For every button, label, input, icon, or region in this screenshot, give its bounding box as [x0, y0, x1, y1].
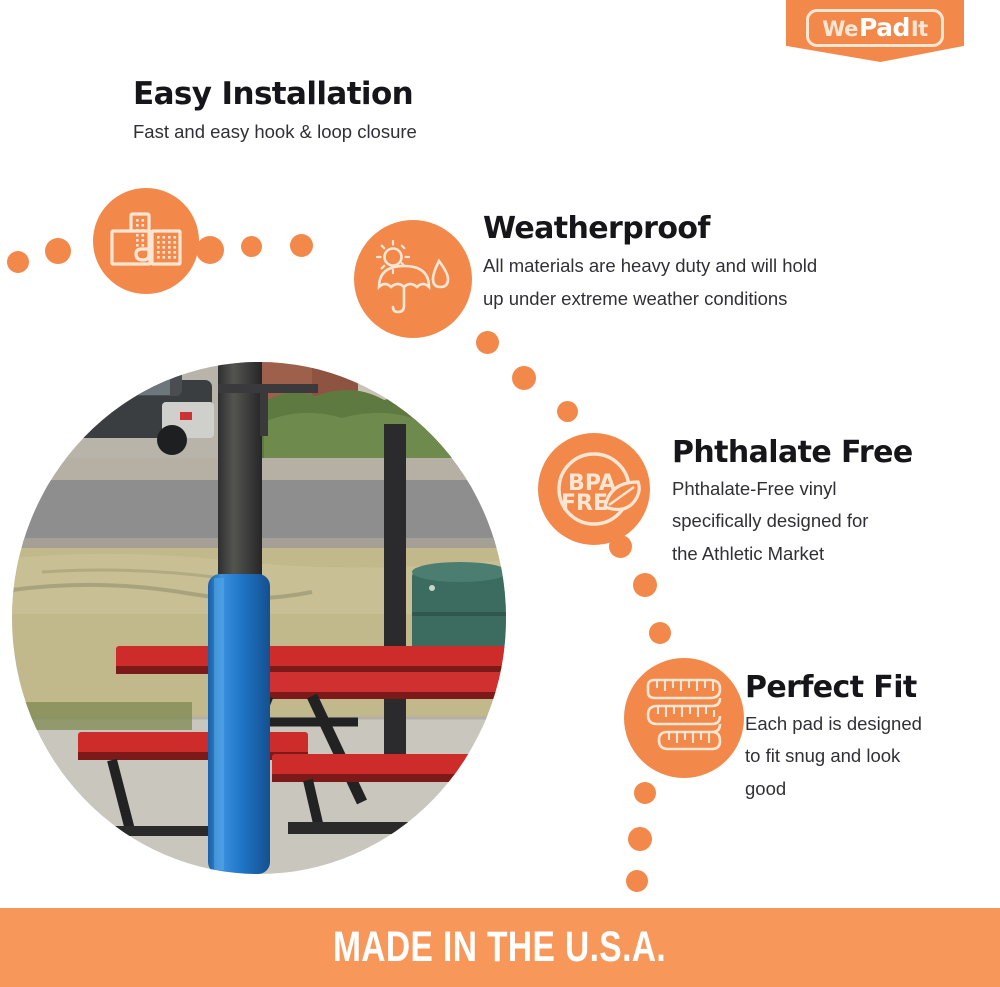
trail-dot: [609, 535, 632, 558]
bpa-free-leaf-icon: BPA FREE: [538, 433, 650, 545]
feature-subtitle-perfect-fit-line2: to fit snug and look: [745, 744, 990, 769]
feature-block-easy-installation: Easy Installation Fast and easy hook & l…: [133, 78, 553, 144]
feature-subtitle-phthalate-free-line1: Phthalate-Free vinyl: [672, 477, 972, 502]
feature-subtitle-phthalate-free-line3: the Athletic Market: [672, 542, 972, 567]
feature-block-phthalate-free: Phthalate Free Phthalate-Free vinyl spec…: [672, 437, 972, 566]
trail-dot: [512, 366, 536, 390]
trail-dot: [476, 331, 499, 354]
feature-subtitle-phthalate-free-line2: specifically designed for: [672, 509, 972, 534]
logo-text-we: We: [822, 19, 858, 40]
trail-dot: [290, 234, 313, 257]
product-photo: [12, 362, 506, 874]
trail-dot: [628, 827, 652, 851]
trail-dot: [196, 236, 224, 264]
trail-dot: [7, 251, 29, 273]
infographic-page: We Pad It Easy Installation Fast and eas…: [0, 0, 1000, 987]
made-in-usa-text: MADE IN THE U.S.A.: [333, 923, 666, 972]
feature-title-perfect-fit: Perfect Fit: [745, 672, 990, 704]
trail-dot: [649, 622, 671, 644]
trail-dot: [557, 401, 578, 422]
feature-block-perfect-fit: Perfect Fit Each pad is designed to fit …: [745, 672, 990, 801]
logo-text-it: It: [911, 19, 928, 40]
trail-dot: [626, 870, 648, 892]
trail-dot: [633, 573, 657, 597]
measuring-tape-icon: [624, 658, 744, 778]
feature-subtitle-perfect-fit-line1: Each pad is designed: [745, 712, 990, 737]
feature-title-easy-installation: Easy Installation: [133, 78, 553, 111]
trail-dot: [45, 238, 71, 264]
feature-subtitle-perfect-fit-line3: good: [745, 777, 990, 802]
sun-umbrella-raindrop-icon: [354, 220, 472, 338]
feature-block-weatherproof: Weatherproof All materials are heavy dut…: [483, 213, 913, 312]
brand-logo-plate: We Pad It: [806, 9, 943, 47]
trail-dot: [241, 236, 262, 257]
feature-subtitle-weatherproof-line2: up under extreme weather conditions: [483, 287, 913, 312]
feature-subtitle-easy-installation: Fast and easy hook & loop closure: [133, 120, 553, 145]
feature-title-phthalate-free: Phthalate Free: [672, 437, 972, 469]
feature-title-weatherproof: Weatherproof: [483, 213, 913, 245]
trail-dot: [634, 782, 656, 804]
logo-text-pad: Pad: [859, 15, 910, 40]
feature-subtitle-weatherproof-line1: All materials are heavy duty and will ho…: [483, 254, 913, 279]
hook-and-loop-icon: [93, 188, 199, 294]
brand-logo-banner: We Pad It: [786, 0, 964, 62]
made-in-usa-banner: MADE IN THE U.S.A.: [0, 908, 1000, 987]
